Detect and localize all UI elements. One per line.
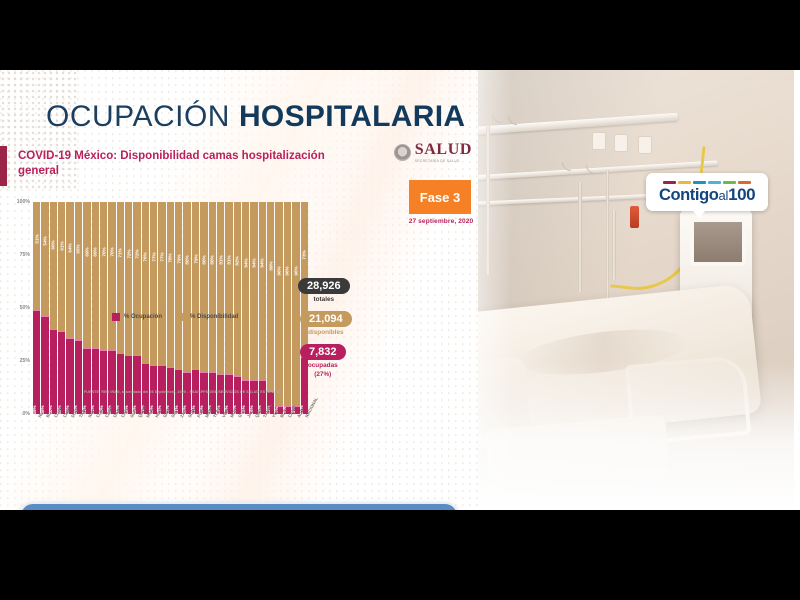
chart-y-tick: 100% (17, 199, 30, 205)
bar-segment-disponibilidad: 76% (142, 202, 149, 363)
chart-bar: 76%24% (142, 202, 149, 414)
logo-color-bar (723, 181, 736, 184)
bar-label-disponibilidad: 81% (226, 256, 231, 265)
bar-segment-disponibilidad: 78% (167, 202, 174, 367)
chart-bar: 96%4% (292, 202, 299, 414)
slide-title-bold: HOSPITALARIA (239, 100, 465, 134)
slide-title: OCUPACIÓN HOSPITALARIA (0, 94, 478, 140)
chart-bar: 70%30% (100, 202, 107, 414)
chart-x-tick: QROO (133, 415, 140, 441)
salud-subtitle: SECRETARÍA DE SALUD (415, 160, 472, 163)
bar-label-disponibilidad: 61% (59, 241, 64, 250)
chart-bar: 54%46% (41, 202, 48, 414)
bar-segment-ocupacion: 39% (58, 331, 65, 414)
bar-label-disponibilidad: 84% (252, 258, 257, 267)
bar-label-disponibilidad: 70% (101, 248, 106, 257)
stat-ocupadas: 7,832 ocupadas (27%) (300, 342, 346, 378)
chart-x-tick: TLAX (209, 415, 216, 441)
hospital-occupancy-chart: 100%75%50%25%0% 51%49%54%46%60%40%61%39%… (8, 202, 308, 440)
bar-segment-ocupacion: 29% (117, 353, 124, 414)
chart-bar: 72%28% (125, 202, 132, 414)
salud-wordmark: SALUD (415, 142, 472, 158)
bar-label-disponibilidad: 84% (260, 258, 265, 267)
logo-color-bar (738, 181, 751, 184)
wall-pipe (578, 182, 582, 292)
presentation-slide: OCUPACIÓN HOSPITALARIA (0, 70, 478, 510)
chart-y-tick: 75% (20, 252, 30, 258)
bar-label-disponibilidad: 80% (185, 255, 190, 264)
chart-x-tick: NACIONAL (301, 415, 308, 441)
chart-x-tick: CAMP (284, 415, 291, 441)
bar-segment-ocupacion: 31% (92, 348, 99, 414)
chart-bar: 89%11% (267, 202, 274, 414)
phase-badge-label: Fase 3 (420, 190, 460, 205)
ventilator-screen (690, 218, 746, 266)
chart-x-tick: YUC (267, 415, 274, 441)
chart-y-tick: 25% (20, 358, 30, 364)
chart-x-tick: CDMX (100, 415, 107, 441)
chart-bar: 79%21% (175, 202, 182, 414)
chart-bar: 65%35% (75, 202, 82, 414)
bar-segment-disponibilidad: 80% (209, 202, 216, 372)
mexico-seal-icon (394, 144, 411, 161)
chart-bar: 61%39% (58, 202, 65, 414)
stat-disponibles-value: 21,094 (300, 311, 352, 327)
bar-segment-disponibilidad: 89% (267, 202, 274, 391)
chart-x-tick: JAL (242, 415, 249, 441)
chart-bar: 84%16% (250, 202, 257, 414)
chart-x-tick: MICH (200, 415, 207, 441)
phase-date: 27 septiembre, 2020 (404, 218, 478, 225)
bar-segment-disponibilidad: 72% (133, 202, 140, 355)
chart-bar: 78%22% (167, 202, 174, 414)
bar-label-disponibilidad: 69% (84, 247, 89, 256)
bar-segment-ocupacion: 36% (66, 338, 73, 414)
chart-bar: 72%28% (133, 202, 140, 414)
chart-y-axis: 100%75%50%25%0% (8, 202, 32, 414)
chart-bar: 96%4% (284, 202, 291, 414)
chart-x-tick: CHIS (117, 415, 124, 441)
bar-segment-disponibilidad: 60% (50, 202, 57, 329)
chart-bar: 71%29% (117, 202, 124, 414)
chart-bar: 82%18% (234, 202, 241, 414)
photo-edge-right (794, 70, 800, 510)
chart-x-tick: BC (41, 415, 48, 441)
bar-segment-disponibilidad: 84% (259, 202, 266, 380)
bar-label-disponibilidad: 81% (218, 256, 223, 265)
bar-segment-disponibilidad: 70% (108, 202, 115, 350)
bar-segment-ocupacion: 46% (41, 316, 48, 414)
bar-label-disponibilidad: 80% (210, 255, 215, 264)
logo-color-bar (708, 181, 721, 184)
bar-label-disponibilidad: 96% (293, 267, 298, 276)
chart-legend: % Ocupación% Disponibilidad (112, 313, 238, 321)
chart-x-tick: SIN (167, 415, 174, 441)
bar-segment-disponibilidad: 96% (275, 202, 282, 406)
bar-label-disponibilidad: 82% (235, 256, 240, 265)
salud-logo: SALUD SECRETARÍA DE SALUD (394, 142, 472, 163)
emergency-switch (630, 206, 639, 228)
bar-label-disponibilidad: 65% (76, 244, 81, 253)
contigo-al-100-logo: Contigo al 100 (646, 173, 768, 211)
bar-segment-disponibilidad: 70% (100, 202, 107, 350)
chart-x-tick: PUE (192, 415, 199, 441)
bar-segment-disponibilidad: 81% (217, 202, 224, 374)
chart-x-tick: BCS (275, 415, 282, 441)
chart-bar: 69%31% (83, 202, 90, 414)
slide-subtitle: COVID-19 México: Disponibilidad camas ho… (18, 149, 348, 179)
bar-segment-ocupacion: 28% (133, 355, 140, 414)
bar-segment-disponibilidad: 71% (117, 202, 124, 353)
chart-x-tick: TAMPS (259, 415, 266, 441)
bar-label-disponibilidad: 96% (285, 267, 290, 276)
chart-x-tick: COL (92, 415, 99, 441)
logo-word-contigo: Contigo (659, 187, 719, 204)
chart-x-tick: QRO (250, 415, 257, 441)
chart-bar: 51%49% (33, 202, 40, 414)
chart-y-tick: 50% (20, 305, 30, 311)
bar-segment-disponibilidad: 96% (292, 202, 299, 406)
chart-bar: 96%4% (275, 202, 282, 414)
chart-x-tick: SON (183, 415, 190, 441)
lower-third-banner: AGS. 21% DE OCUPACION CAMAS HOSPITALIZAC… (19, 502, 459, 510)
bar-segment-ocupacion: 31% (83, 348, 90, 414)
chart-bar: 60%40% (50, 202, 57, 414)
chart-bar: 84%16% (242, 202, 249, 414)
chart-x-tick: NL (33, 415, 40, 441)
bar-segment-disponibilidad: 69% (92, 202, 99, 348)
stat-disponibles: 21,094 disponibles (300, 309, 352, 336)
logo-wordmark: Contigo al 100 (659, 186, 755, 204)
bar-segment-ocupacion: 35% (75, 340, 82, 414)
bar-label-disponibilidad: 89% (268, 262, 273, 271)
bar-label-disponibilidad: 72% (134, 249, 139, 258)
legend-swatch (178, 313, 186, 321)
legend-label: % Ocupación (124, 314, 162, 320)
chart-bar: 77%23% (158, 202, 165, 414)
bar-label-disponibilidad: 60% (51, 241, 56, 250)
bar-segment-disponibilidad: 72% (125, 202, 132, 355)
legend-item: % Disponibilidad (178, 313, 238, 321)
bar-segment-ocupacion: 40% (50, 329, 57, 414)
bar-segment-disponibilidad: 61% (58, 202, 65, 331)
bar-label-disponibilidad: 54% (43, 236, 48, 245)
chart-bar: 77%23% (150, 202, 157, 414)
chart-x-tick: TAB (75, 415, 82, 441)
stat-disponibles-caption: disponibles (300, 329, 352, 336)
chart-x-tick: OAX (108, 415, 115, 441)
bar-label-disponibilidad: 70% (109, 248, 114, 257)
chart-x-tick: DGO (66, 415, 73, 441)
chart-bar: 81%19% (225, 202, 232, 414)
bar-segment-disponibilidad: 77% (158, 202, 165, 365)
bar-label-ocupacion: 49% (33, 405, 37, 414)
chart-plot-area: 51%49%54%46%60%40%61%39%64%36%65%35%69%3… (33, 202, 308, 414)
chart-source-note: FUENTE: RED IRAG, acumulado del 26 Septi… (84, 390, 384, 394)
bar-label-disponibilidad: 79% (176, 254, 181, 263)
bar-segment-disponibilidad: 51% (33, 202, 40, 310)
phase-badge: Fase 3 (409, 180, 471, 214)
bar-label-disponibilidad: 96% (277, 267, 282, 276)
stat-totales: 28,926 totales (298, 276, 350, 303)
bar-segment-disponibilidad: 80% (200, 202, 207, 372)
chart-x-tick: AGS (292, 415, 299, 441)
chart-x-tick: MOR (225, 415, 232, 441)
chart-bar: 70%30% (108, 202, 115, 414)
chart-x-tick: MEX (142, 415, 149, 441)
logo-color-bar (693, 181, 706, 184)
wall-gas-outlet (592, 132, 606, 150)
bar-segment-ocupacion: 49% (33, 310, 40, 414)
bar-segment-disponibilidad: 84% (242, 202, 249, 380)
bar-label-disponibilidad: 76% (143, 252, 148, 261)
bar-segment-disponibilidad: 80% (183, 202, 190, 372)
bar-segment-disponibilidad: 79% (175, 202, 182, 369)
chart-x-tick: COAH (50, 415, 57, 441)
broadcast-content: OCUPACIÓN HOSPITALARIA (0, 70, 800, 510)
logo-word-100: 100 (728, 186, 755, 203)
bar-label-disponibilidad: 69% (93, 247, 98, 256)
legend-swatch (112, 313, 120, 321)
bar-segment-disponibilidad: 69% (83, 202, 90, 348)
bar-label-disponibilidad: 51% (34, 234, 39, 243)
bar-segment-disponibilidad: 64% (66, 202, 73, 338)
bar-label-disponibilidad: 79% (193, 254, 198, 263)
slide-title-thin: OCUPACIÓN (46, 100, 230, 134)
bar-label-disponibilidad: 77% (151, 253, 156, 262)
chart-x-tick: NAY (83, 415, 90, 441)
bar-segment-disponibilidad: 65% (75, 202, 82, 340)
broadcast-screen: OCUPACIÓN HOSPITALARIA (0, 0, 800, 600)
chart-bar: 80%20% (209, 202, 216, 414)
bar-label-disponibilidad: 71% (118, 249, 123, 258)
chart-bar: 80%20% (200, 202, 207, 414)
stat-ocupadas-value: 7,832 (300, 344, 346, 360)
letterbox-top (0, 0, 800, 70)
subtitle-accent-bar (0, 146, 7, 186)
stat-ocupadas-caption: ocupadas (300, 362, 346, 369)
bar-label-disponibilidad: 64% (68, 244, 73, 253)
stat-totales-caption: totales (298, 296, 350, 303)
chart-x-tick: GTO (234, 415, 241, 441)
bar-segment-ocupacion: 30% (100, 350, 107, 414)
bar-label-disponibilidad: 77% (160, 253, 165, 262)
chart-y-tick: 0% (23, 411, 31, 417)
bar-label-disponibilidad: 73% (302, 250, 307, 259)
bar-label-disponibilidad: 72% (126, 249, 131, 258)
chart-bar: 80%20% (183, 202, 190, 414)
chart-x-tick: VER (217, 415, 224, 441)
chart-bar: 79%21% (192, 202, 199, 414)
bar-label-disponibilidad: 80% (201, 255, 206, 264)
bar-segment-disponibilidad: 54% (41, 202, 48, 316)
letterbox-bottom (0, 510, 800, 600)
bar-segment-ocupacion: 28% (125, 355, 132, 414)
stat-ocupadas-caption-pct: (27%) (300, 371, 346, 378)
bar-segment-disponibilidad: 79% (192, 202, 199, 369)
chart-bar: 73%27% (301, 202, 308, 414)
photo-edge-fade-bottom (478, 360, 800, 510)
hospital-room-photo (478, 70, 800, 510)
bar-segment-disponibilidad: 84% (250, 202, 257, 380)
chart-x-tick: SLP (125, 415, 132, 441)
chart-x-tick: GRO (158, 415, 165, 441)
chart-x-tick: CHIH (58, 415, 65, 441)
logo-color-bar (678, 181, 691, 184)
chart-bar: 69%31% (92, 202, 99, 414)
logo-color-bar (663, 181, 676, 184)
bar-segment-disponibilidad: 82% (234, 202, 241, 376)
logo-word-al: al (718, 189, 728, 202)
bar-segment-disponibilidad: 77% (150, 202, 157, 365)
bar-segment-disponibilidad: 96% (284, 202, 291, 406)
chart-x-axis: NLBCCOAHCHIHDGOTABNAYCOLCDMXOAXCHISSLPQR… (33, 415, 308, 441)
chart-x-tick: HGO (150, 415, 157, 441)
chart-bar: 81%19% (217, 202, 224, 414)
bar-label-disponibilidad: 78% (168, 254, 173, 263)
stat-totales-value: 28,926 (298, 278, 350, 294)
legend-item: % Ocupación (112, 313, 162, 321)
bar-segment-disponibilidad: 81% (225, 202, 232, 374)
legend-label: % Disponibilidad (190, 314, 238, 320)
logo-color-bars (663, 181, 751, 184)
chart-x-tick: ZAC (175, 415, 182, 441)
chart-bar: 84%16% (259, 202, 266, 414)
chart-bar: 64%36% (66, 202, 73, 414)
bar-label-disponibilidad: 84% (243, 258, 248, 267)
